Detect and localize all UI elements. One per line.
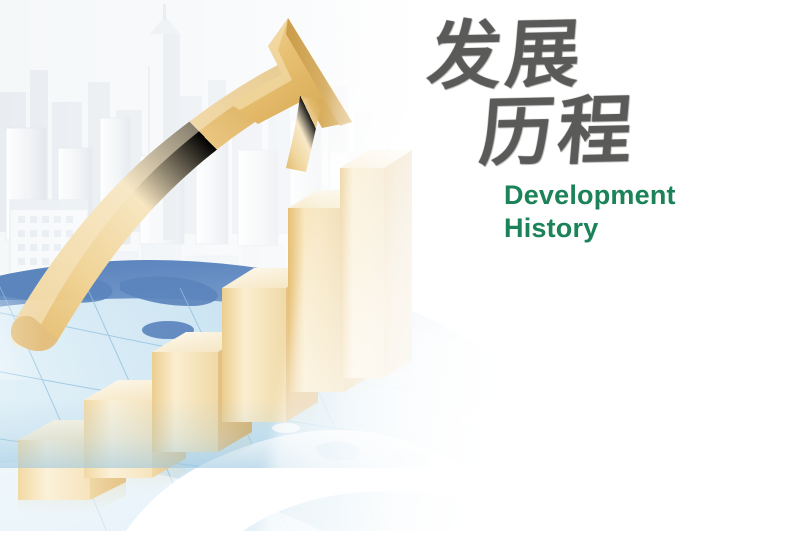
title-block: 发展 历程 Development History — [424, 18, 754, 245]
title-en-block: Development History — [504, 179, 754, 245]
title-en-line-1: Development — [504, 179, 754, 212]
bar-2 — [84, 380, 186, 492]
title-cjk-line-1: 发展 — [425, 15, 758, 94]
bar-1 — [18, 420, 126, 514]
bar-3 — [152, 332, 252, 466]
bottom-white-strip — [0, 531, 800, 540]
development-history-banner: 发展 历程 Development History — [0, 0, 800, 540]
title-en-line-2: History — [504, 212, 754, 245]
title-cjk-line-2: 历程 — [477, 92, 758, 170]
